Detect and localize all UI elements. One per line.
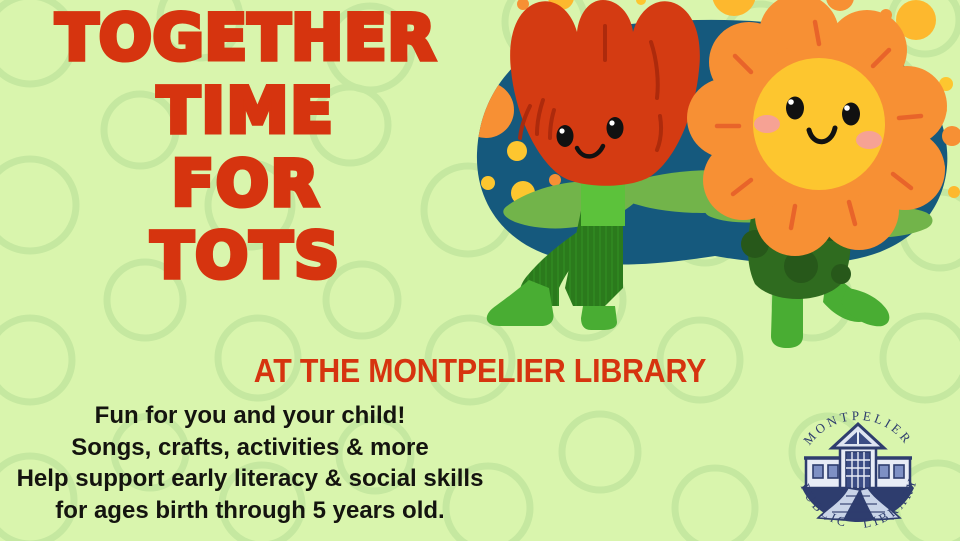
- title-line-1: TOGETHER: [0, 8, 492, 69]
- montpelier-public-library-logo: MONTPELIER PUBLIC LIBRARY: [782, 396, 934, 538]
- body-line-2: Songs, crafts, activities & more: [0, 432, 500, 464]
- body-line-4: for ages birth through 5 years old.: [0, 495, 500, 527]
- poster-canvas: TOGETHER TIME FOR TOTS AT THE MONTPELIER…: [0, 0, 960, 541]
- poster-title: TOGETHER TIME FOR TOTS: [0, 8, 492, 287]
- daisy-character: [687, 0, 947, 348]
- title-line-2: TIME: [0, 81, 492, 142]
- body-line-1: Fun for you and your child!: [0, 400, 500, 432]
- poster-body-copy: Fun for you and your child! Songs, craft…: [0, 400, 500, 527]
- poster-subtitle: AT THE MONTPELIER LIBRARY: [38, 352, 921, 390]
- flower-illustration: [455, 0, 960, 358]
- title-line-3: FOR: [0, 154, 492, 215]
- body-line-3: Help support early literacy & social ski…: [0, 463, 500, 495]
- title-line-4: TOTS: [0, 226, 492, 287]
